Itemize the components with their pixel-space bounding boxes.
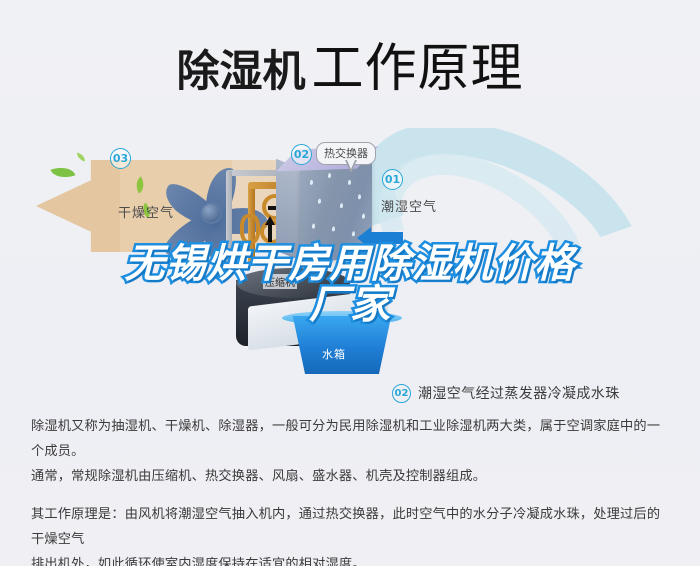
legend-badge: 02 [392,384,411,403]
water-tank-icon [286,316,398,374]
evaporator-side-icon [276,159,302,262]
legend-label: 潮湿空气经过蒸发器冷凝成水珠 [418,383,620,403]
paragraph-1-line-1: 除湿机又称为抽湿机、干燥机、除湿器，一般可分为民用除湿机和工业除湿机两大类，属于… [31,414,673,464]
humid-air-label: 潮湿空气 [381,196,437,215]
page-root: 除湿机工作原理 03 干燥空气 [0,0,700,566]
diagram-legend: 02 潮湿空气经过蒸发器冷凝成水珠 03 从上部出风口吹出清新干爽空气 [392,376,620,406]
article-body: 除湿机又称为抽湿机、干燥机、除湿器，一般可分为民用除湿机和工业除湿机两大类，属于… [31,414,673,566]
paragraph-spacer [31,489,673,502]
dehumidifier-diagram: 03 干燥空气 [0,128,700,406]
water-tank-label: 水箱 [322,346,346,362]
step-badge-dry-air: 03 [110,148,131,169]
step-badge-heat-exchanger: 02 [291,144,312,165]
page-title-primary: 除湿机 [176,47,305,97]
compressor-label: 压缩机 [263,274,297,289]
page-title: 除湿机工作原理 [0,26,700,101]
paragraph-2-line-1: 其工作原理是：由风机将潮湿空气抽入机内，通过热交换器，此时空气中的水分子冷凝成水… [31,502,673,552]
air-intake-arrowhead-icon [357,227,371,249]
page-title-secondary: 工作原理 [311,39,523,99]
evaporator-block-icon [300,158,372,265]
leaf-icon [75,152,87,161]
callout-tail-icon [345,160,357,173]
step-badge-humid-air: 01 [382,169,403,190]
legend-item: 02 潮湿空气经过蒸发器冷凝成水珠 [392,376,620,406]
paragraph-1-line-2: 通常，常规除湿机由压缩机、热交换器、风扇、盛水器、机壳及控制器组成。 [31,464,673,489]
leaf-icon [51,163,76,182]
air-intake-arrow-icon [369,232,403,244]
paragraph-2-line-2: 排出机外，如此循环使室内湿度保持在适宜的相对湿度。 [31,552,673,566]
